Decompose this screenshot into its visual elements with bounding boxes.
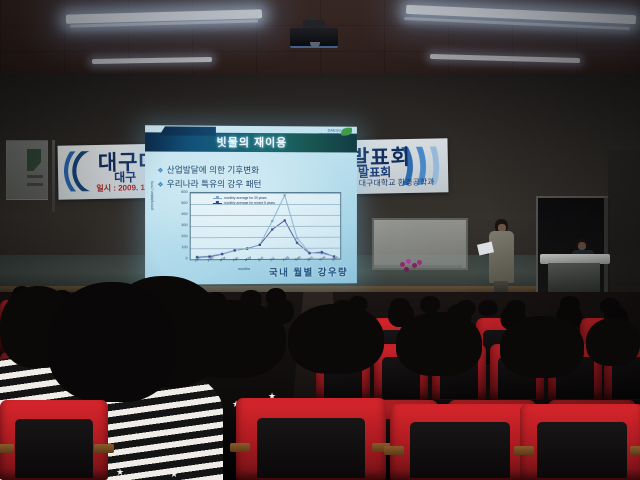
chart-plot-area: monthly average for 30 yearsmonthly aver… — [190, 192, 342, 260]
banner-swoosh-left-icon — [62, 151, 99, 192]
chart-data-point — [321, 251, 323, 253]
chart-gridline — [191, 204, 341, 205]
foreground-person-head — [48, 282, 176, 402]
seat-cushion — [257, 418, 365, 479]
podium — [540, 254, 610, 294]
chart-y-tick: 500 — [181, 201, 187, 205]
banner-organization: : 대구대학교 환경공학과 — [354, 177, 434, 190]
chart-y-tick: 100 — [181, 245, 187, 249]
seat-cushion — [15, 419, 93, 478]
audience-person-foreground — [586, 318, 640, 366]
slide-bullet-1: 산업발달에 의한 기후변화 — [157, 164, 259, 176]
chart-data-point — [284, 219, 286, 221]
chart-y-tick: 200 — [181, 234, 187, 238]
person-head — [586, 318, 640, 366]
logo-text: DAEGUUNIVERSITY — [318, 128, 341, 136]
wall-poster — [6, 140, 48, 200]
person-head — [288, 304, 384, 374]
audience-person-far — [420, 296, 440, 313]
jacket-star-motif: ★ — [132, 432, 140, 441]
person-head — [420, 296, 440, 313]
audience-person-foreground — [396, 312, 482, 376]
chart-y-tick: 400 — [181, 212, 187, 216]
podium-body — [548, 263, 600, 295]
chart-data-point — [271, 220, 273, 222]
chart-data-point — [259, 244, 261, 246]
chart-y-tick: 600 — [181, 190, 187, 194]
seat-cushion — [537, 422, 626, 478]
chart-x-axis-label: months — [238, 267, 250, 271]
flower-arrangement — [398, 258, 424, 274]
chart-data-point — [308, 252, 310, 254]
person-head — [500, 316, 584, 378]
audience-person-foreground — [288, 304, 384, 374]
seat-armrest — [384, 446, 404, 455]
seat-armrest — [230, 443, 250, 452]
rainfall-chart: precipitation (mm) 0100200300400500600 m… — [176, 192, 344, 273]
right-wall-panel — [608, 150, 640, 300]
person-head — [396, 312, 482, 376]
chart-y-tick: 0 — [186, 256, 188, 260]
seat-armrest — [514, 446, 534, 455]
chart-data-point — [234, 249, 236, 251]
chart-data-point — [296, 242, 298, 244]
chart-y-tick: 300 — [181, 223, 187, 227]
jacket-star-motif: ★ — [170, 470, 178, 479]
podium-person-face — [578, 242, 586, 250]
seat-armrest — [94, 444, 114, 453]
university-logo: DAEGUUNIVERSITY — [319, 127, 352, 138]
poster-text-line — [27, 183, 43, 186]
chart-y-axis-label: precipitation (mm) — [150, 181, 154, 210]
auditorium-seat-foreground[interactable] — [0, 400, 108, 480]
lecture-hall-photo: 대구대 발표회 대구 발표회 일시 : 2009. 11. 20(금) : 대구… — [0, 0, 640, 480]
chart-data-point — [284, 194, 286, 196]
auditorium-seat-foreground[interactable] — [520, 404, 640, 480]
audience-person-foreground — [500, 316, 584, 378]
person-head — [176, 300, 286, 378]
leaf-icon — [341, 128, 352, 136]
chart-y-ticks: 0100200300400500600 — [173, 192, 187, 258]
slide-bullet-2: 우리나라 특유의 강우 패턴 — [157, 178, 261, 190]
left-door-edge — [52, 140, 55, 212]
poster-text-line — [27, 175, 43, 178]
seat-armrest — [630, 446, 640, 455]
presenter-body — [489, 231, 514, 283]
projector-icon — [290, 20, 338, 46]
auditorium-seat-foreground[interactable] — [236, 398, 386, 480]
chart-data-point — [271, 228, 273, 230]
auditorium-seat-foreground[interactable] — [390, 404, 530, 480]
audience-person-foreground — [176, 300, 286, 378]
jacket-star-motif: ★ — [116, 468, 124, 477]
standing-presenter — [487, 219, 517, 297]
seat-armrest — [0, 444, 14, 453]
projection-screen: 빗물의 재이용 DAEGUUNIVERSITY 산업발달에 의한 기후변화 우리… — [145, 125, 357, 285]
slide-caption: 국내 월별 강우량 — [269, 264, 348, 278]
poster-graphic-icon — [27, 149, 41, 171]
seat-cushion — [410, 422, 511, 478]
